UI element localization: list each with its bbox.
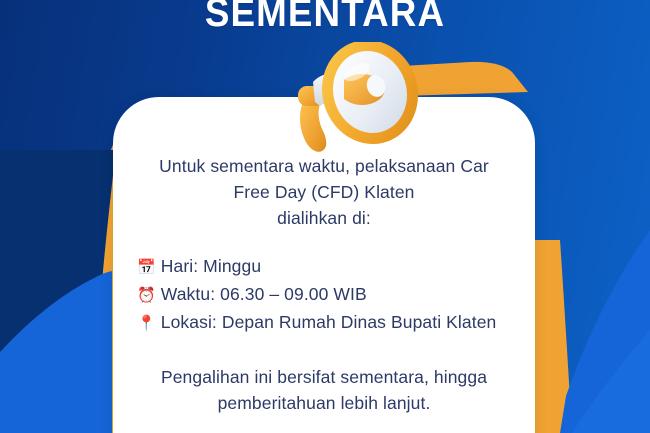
detail-location: 📍 Lokasi: Depan Rumah Dinas Bupati Klate… xyxy=(137,309,513,337)
detail-day-text: Hari: Minggu xyxy=(161,256,261,276)
map-pin-icon: 📍 xyxy=(137,314,156,332)
detail-location-text: Lokasi: Depan Rumah Dinas Bupati Klaten xyxy=(161,312,497,332)
detail-day: 📅 Hari: Minggu xyxy=(137,253,513,281)
closing-paragraph: Pengalihan ini bersifat sementara, hingg… xyxy=(135,364,513,416)
closing-line-2: pemberitahuan lebih lanjut. xyxy=(135,390,513,416)
calendar-icon: 📅 xyxy=(137,258,156,276)
intro-line-2: Free Day (CFD) Klaten xyxy=(135,179,513,205)
closing-line-1: Pengalihan ini bersifat sementara, hingg… xyxy=(135,364,513,390)
details-list: 📅 Hari: Minggu ⏰ Waktu: 06.30 – 09.00 WI… xyxy=(135,253,513,337)
intro-line-3: dialihkan di: xyxy=(135,205,513,231)
detail-time: ⏰ Waktu: 06.30 – 09.00 WIB xyxy=(137,281,513,309)
megaphone-icon xyxy=(258,42,438,157)
intro-paragraph: Untuk sementara waktu, pelaksanaan Car F… xyxy=(135,153,513,231)
page-title: SEMENTARA xyxy=(26,0,624,36)
detail-time-text: Waktu: 06.30 – 09.00 WIB xyxy=(161,284,367,304)
alarm-clock-icon: ⏰ xyxy=(137,286,156,304)
poster-canvas: SEMENTARA Untuk sementara waktu, pelaksa… xyxy=(0,0,650,433)
